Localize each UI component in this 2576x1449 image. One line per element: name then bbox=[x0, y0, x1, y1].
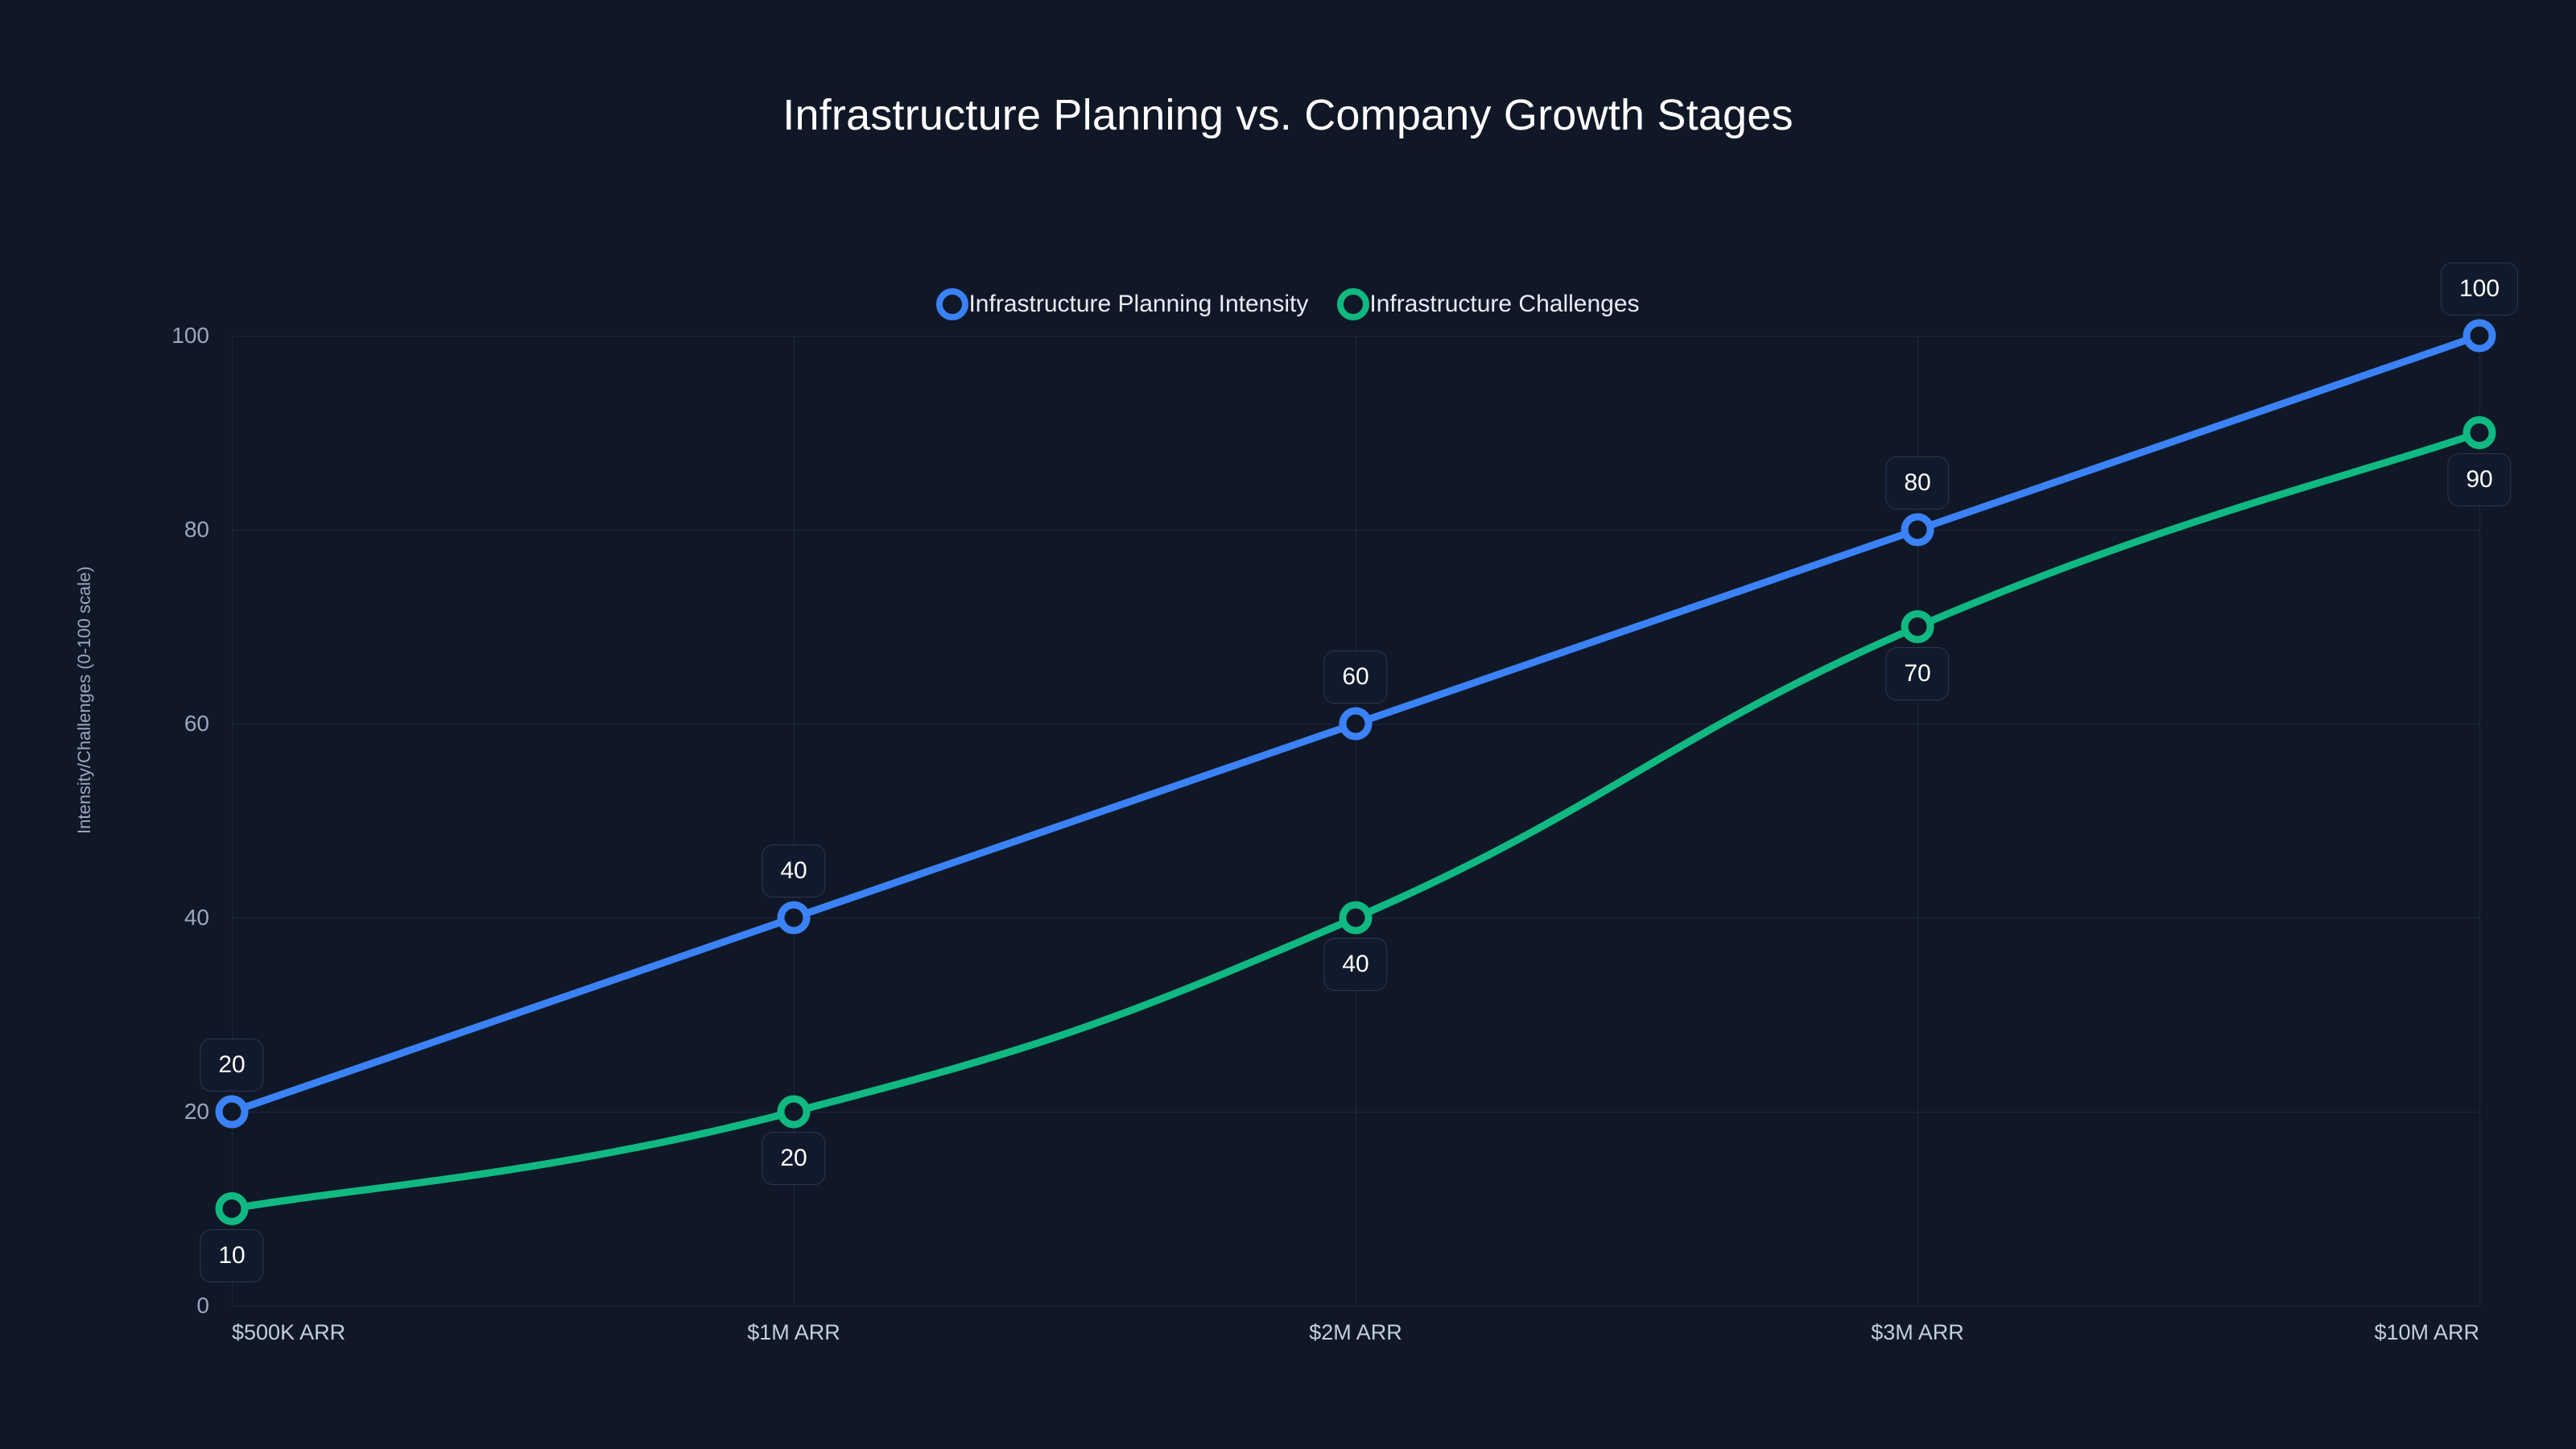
data-point-marker[interactable] bbox=[1343, 905, 1368, 931]
series-layer bbox=[232, 336, 2479, 1306]
legend-label-series-1: Infrastructure Challenges bbox=[1369, 291, 1639, 318]
y-axis-title: Intensity/Challenges (0-100 scale) bbox=[74, 566, 95, 834]
y-axis-tick-label: 100 bbox=[113, 323, 209, 349]
data-point-marker[interactable] bbox=[1343, 711, 1368, 737]
data-label-pill: 80 bbox=[1885, 456, 1949, 510]
data-point-marker[interactable] bbox=[1905, 614, 1930, 640]
y-axis-tick-label: 0 bbox=[113, 1293, 209, 1319]
data-label-pill: 60 bbox=[1323, 650, 1387, 704]
plot-area bbox=[232, 336, 2479, 1306]
x-axis-tick-label: $10M ARR bbox=[2374, 1320, 2479, 1345]
legend-label-series-0: Infrastructure Planning Intensity bbox=[968, 291, 1308, 318]
data-label-pill: 40 bbox=[762, 844, 825, 898]
data-label-pill: 70 bbox=[1885, 647, 1949, 700]
data-label-pill: 20 bbox=[200, 1038, 263, 1092]
data-point-marker[interactable] bbox=[2467, 420, 2492, 446]
chart-legend: Infrastructure Planning Intensity Infras… bbox=[0, 288, 2576, 320]
legend-marker-circle-icon bbox=[1337, 288, 1369, 320]
data-point-marker[interactable] bbox=[781, 1099, 807, 1125]
chart-title: Infrastructure Planning vs. Company Grow… bbox=[0, 90, 2576, 140]
data-label-pill: 100 bbox=[2441, 262, 2518, 316]
data-point-marker[interactable] bbox=[1905, 517, 1930, 543]
chart-container: Infrastructure Planning vs. Company Grow… bbox=[0, 0, 2576, 1449]
data-point-marker[interactable] bbox=[2467, 323, 2492, 349]
data-label-pill: 10 bbox=[200, 1229, 263, 1282]
x-axis-tick-label: $3M ARR bbox=[1871, 1320, 1964, 1345]
x-axis-tick-label: $500K ARR bbox=[232, 1320, 345, 1345]
data-point-marker[interactable] bbox=[781, 905, 807, 931]
data-point-marker[interactable] bbox=[219, 1099, 245, 1125]
x-axis-tick-label: $2M ARR bbox=[1309, 1320, 1402, 1345]
y-axis-tick-label: 20 bbox=[113, 1099, 209, 1125]
series-line-1 bbox=[232, 433, 2479, 1209]
data-label-pill: 40 bbox=[1323, 938, 1387, 991]
x-axis-tick-label: $1M ARR bbox=[747, 1320, 840, 1345]
y-axis-tick-label: 40 bbox=[113, 905, 209, 931]
gridline-horizontal bbox=[232, 1306, 2479, 1307]
data-label-pill: 20 bbox=[762, 1132, 825, 1185]
legend-item-series-0[interactable]: Infrastructure Planning Intensity bbox=[936, 288, 1308, 320]
legend-item-series-1[interactable]: Infrastructure Challenges bbox=[1337, 288, 1639, 320]
y-axis-tick-label: 60 bbox=[113, 711, 209, 737]
legend-marker-circle-icon bbox=[936, 288, 968, 320]
y-axis-tick-label: 80 bbox=[113, 517, 209, 543]
data-label-pill: 90 bbox=[2447, 453, 2511, 506]
data-point-marker[interactable] bbox=[219, 1196, 245, 1222]
